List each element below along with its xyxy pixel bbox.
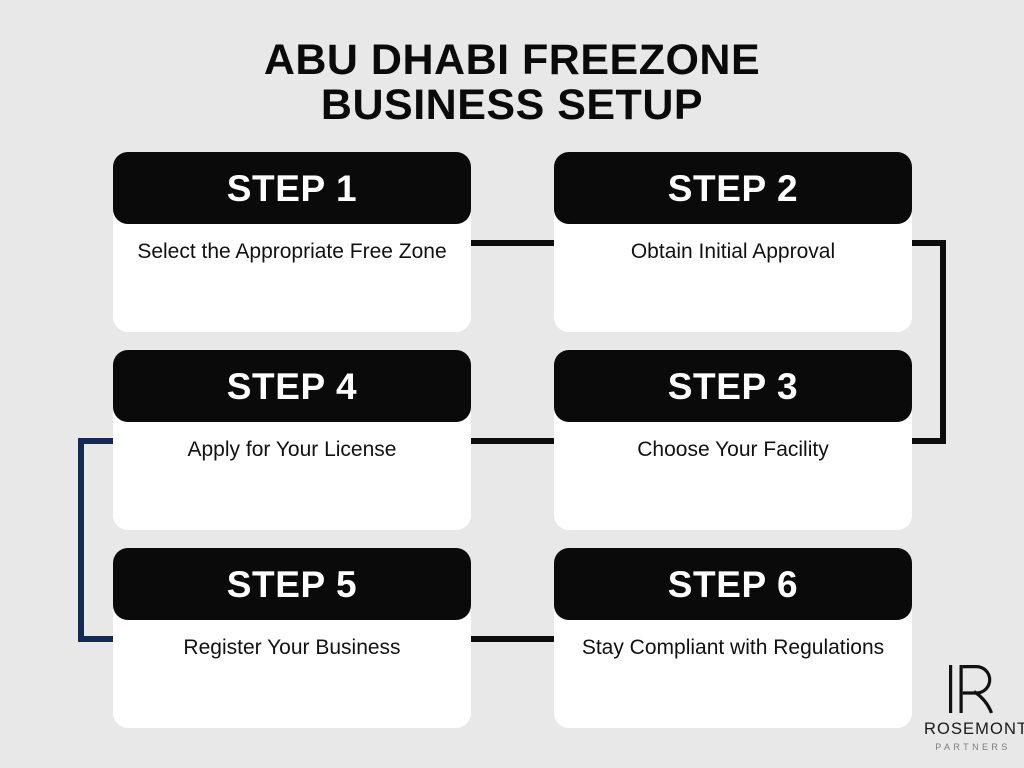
connector-step1-step2: [466, 240, 560, 246]
step-card-4-label: STEP 4: [227, 368, 357, 405]
connector-step4-step5-vertical: [78, 438, 84, 642]
logo-wordmark: ROSEMONT: [924, 720, 1020, 739]
brand-logo: ROSEMONT PARTNERS: [924, 660, 1020, 753]
step-card-5-header: STEP 5: [113, 548, 471, 620]
step-card-5-description: Register Your Business: [183, 634, 400, 662]
step-card-6-description: Stay Compliant with Regulations: [582, 634, 884, 662]
logo-subwordmark: PARTNERS: [924, 742, 1020, 753]
step-card-5-label: STEP 5: [227, 566, 357, 603]
step-card-4-description: Apply for Your License: [188, 436, 397, 464]
step-card-2-header: STEP 2: [554, 152, 912, 224]
connector-step2-step3-vertical: [940, 240, 946, 444]
step-card-2-label: STEP 2: [668, 170, 798, 207]
step-card-3-header: STEP 3: [554, 350, 912, 422]
step-card-5-body: Register Your Business: [113, 608, 471, 728]
rosemont-monogram-icon: [924, 660, 1020, 718]
step-card-1-description: Select the Appropriate Free Zone: [137, 238, 446, 266]
connector-step5-step6: [466, 636, 560, 642]
step-card-1-label: STEP 1: [227, 170, 357, 207]
infographic-canvas: ABU DHABI FREEZONE BUSINESS SETUP Select…: [0, 0, 1024, 768]
connector-step2-step3-bottom: [906, 438, 946, 444]
step-card-4-body: Apply for Your License: [113, 410, 471, 530]
step-card-6-body: Stay Compliant with Regulations: [554, 608, 912, 728]
step-card-3[interactable]: Choose Your Facility STEP 3: [554, 350, 912, 530]
step-card-6-header: STEP 6: [554, 548, 912, 620]
connector-step3-step4: [466, 438, 560, 444]
page-title-line-1: ABU DHABI FREEZONE: [0, 38, 1024, 83]
step-card-3-body: Choose Your Facility: [554, 410, 912, 530]
page-title: ABU DHABI FREEZONE BUSINESS SETUP: [0, 38, 1024, 127]
step-card-5[interactable]: Register Your Business STEP 5: [113, 548, 471, 728]
step-card-1-body: Select the Appropriate Free Zone: [113, 212, 471, 332]
step-card-4[interactable]: Apply for Your License STEP 4: [113, 350, 471, 530]
step-card-3-label: STEP 3: [668, 368, 798, 405]
step-card-3-description: Choose Your Facility: [637, 436, 828, 464]
step-card-1-header: STEP 1: [113, 152, 471, 224]
page-title-line-2: BUSINESS SETUP: [0, 83, 1024, 128]
step-card-6[interactable]: Stay Compliant with Regulations STEP 6: [554, 548, 912, 728]
step-card-2-body: Obtain Initial Approval: [554, 212, 912, 332]
step-card-2-description: Obtain Initial Approval: [631, 238, 835, 266]
step-card-2[interactable]: Obtain Initial Approval STEP 2: [554, 152, 912, 332]
step-card-4-header: STEP 4: [113, 350, 471, 422]
step-card-6-label: STEP 6: [668, 566, 798, 603]
step-card-1[interactable]: Select the Appropriate Free Zone STEP 1: [113, 152, 471, 332]
